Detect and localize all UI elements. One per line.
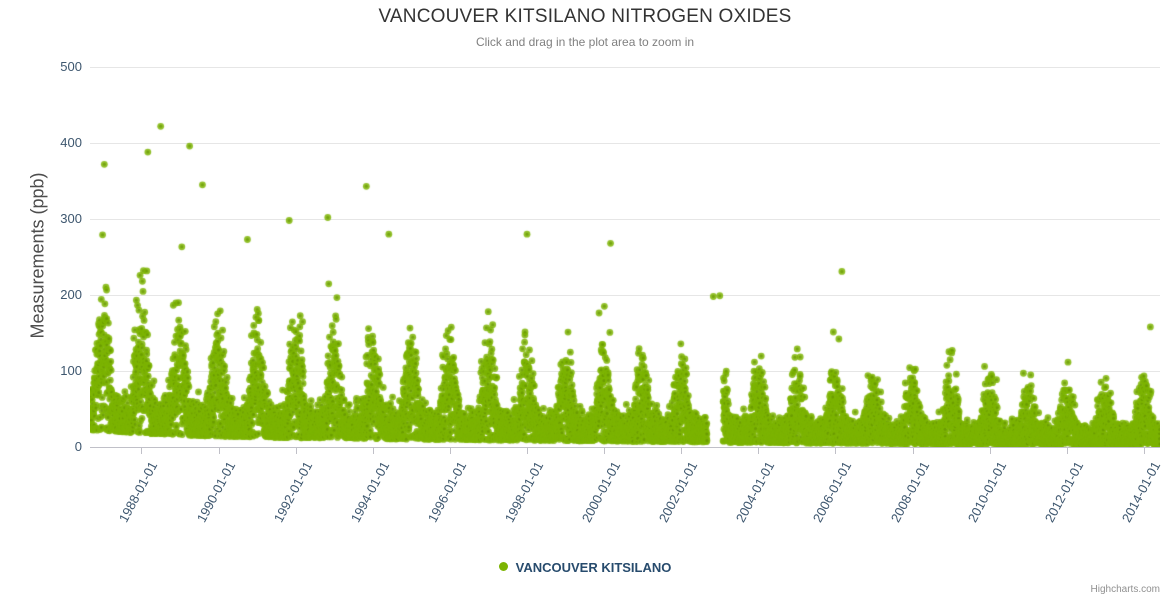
x-axis-tick — [990, 447, 991, 454]
scatter-points — [90, 67, 1160, 447]
y-axis-tick-label: 100 — [12, 364, 82, 377]
legend-item-label[interactable]: VANCOUVER KITSILANO — [516, 560, 672, 575]
y-axis-labels: 0100200300400500 — [0, 0, 82, 600]
y-axis-tick-label: 200 — [12, 288, 82, 301]
legend-marker-icon — [499, 562, 508, 571]
legend[interactable]: VANCOUVER KITSILANO — [0, 560, 1170, 575]
x-axis-tick-label: 2000-01-01 — [573, 459, 624, 537]
chart-title: VANCOUVER KITSILANO NITROGEN OXIDES — [0, 6, 1170, 28]
x-axis-tick — [450, 447, 451, 454]
x-axis-tick — [1067, 447, 1068, 454]
y-axis-tick-label: 300 — [12, 212, 82, 225]
x-axis-tick — [681, 447, 682, 454]
chart-subtitle: Click and drag in the plot area to zoom … — [0, 35, 1170, 49]
x-axis-tick — [527, 447, 528, 454]
x-axis-tick — [296, 447, 297, 454]
y-axis-tick-label: 500 — [12, 60, 82, 73]
credits-label[interactable]: Highcharts.com — [1091, 584, 1160, 595]
x-axis-tick-label: 2008-01-01 — [881, 459, 932, 537]
x-axis-tick-label: 2004-01-01 — [727, 459, 778, 537]
x-axis-tick — [373, 447, 374, 454]
x-axis-tick — [219, 447, 220, 454]
x-axis-tick — [758, 447, 759, 454]
x-axis-tick — [1144, 447, 1145, 454]
x-axis-tick-label: 1996-01-01 — [418, 459, 469, 537]
x-axis-tick-label: 1988-01-01 — [110, 459, 161, 537]
x-axis-line — [90, 447, 1160, 448]
x-axis-tick-label: 1992-01-01 — [264, 459, 315, 537]
x-axis-tick-label: 2002-01-01 — [650, 459, 701, 537]
x-axis-tick-label: 2012-01-01 — [1035, 459, 1086, 537]
plot-area[interactable] — [90, 67, 1160, 447]
x-axis-tick-label: 1994-01-01 — [341, 459, 392, 537]
x-axis-tick-label: 2014-01-01 — [1112, 459, 1163, 537]
y-axis-tick-label: 400 — [12, 136, 82, 149]
x-axis-tick — [141, 447, 142, 454]
x-axis-tick-label: 1990-01-01 — [187, 459, 238, 537]
x-axis-tick — [913, 447, 914, 454]
x-axis-tick-label: 2006-01-01 — [804, 459, 855, 537]
highcharts-chart: VANCOUVER KITSILANO NITROGEN OXIDES Clic… — [0, 0, 1170, 600]
y-axis-tick-label: 0 — [12, 440, 82, 453]
x-axis-tick — [604, 447, 605, 454]
x-axis-tick-label: 2010-01-01 — [958, 459, 1009, 537]
x-axis-tick — [835, 447, 836, 454]
x-axis-tick-label: 1998-01-01 — [495, 459, 546, 537]
